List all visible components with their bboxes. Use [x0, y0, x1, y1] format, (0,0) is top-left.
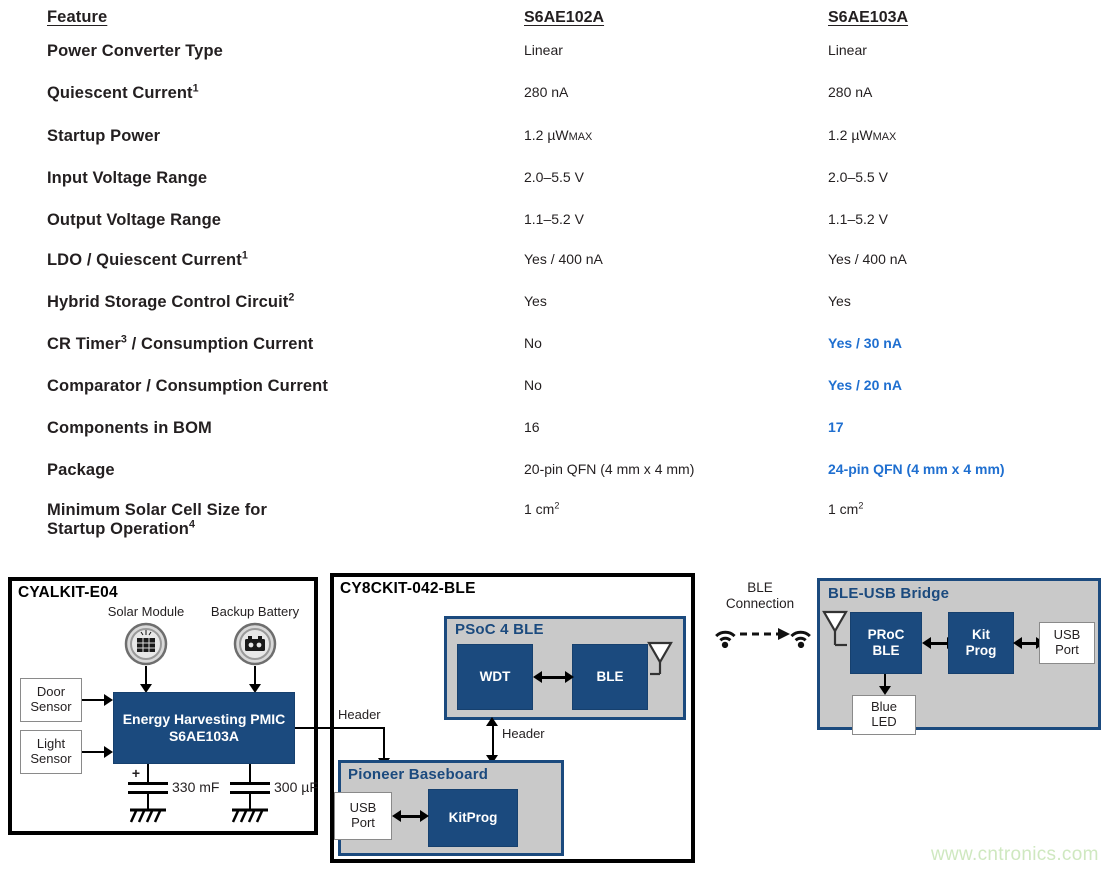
- feature-label: Output Voltage Range: [47, 211, 221, 230]
- arrowhead-light-sensor: [104, 746, 113, 758]
- arrowhead-door-sensor: [104, 694, 113, 706]
- ble-usb-bridge-title: BLE-USB Bridge: [828, 585, 949, 602]
- ground-symbol-1-icon: [128, 808, 168, 824]
- value-s6ae103a: Yes: [828, 293, 851, 310]
- ble-dashed-arrow-icon: [740, 626, 790, 642]
- psoc4-ble-title: PSoC 4 BLE: [455, 621, 544, 638]
- wire-psoc-baseboard: [492, 724, 494, 756]
- arrowhead-psoc-up: [486, 717, 498, 726]
- wire-proc-kitprog: [929, 642, 949, 645]
- wire-battery-to-pmic: [254, 666, 256, 686]
- cap1-polarity-label: +: [129, 765, 143, 781]
- value-s6ae102a: No: [524, 335, 542, 352]
- footnote-marker: 2: [288, 292, 294, 304]
- value-s6ae103a: 24-pin QFN (4 mm x 4 mm): [828, 461, 1005, 478]
- value-s6ae103a: Yes / 30 nA: [828, 335, 902, 352]
- column-header-s6ae102a: S6AE102A: [524, 8, 604, 27]
- feature-label: Package: [47, 461, 115, 480]
- value-s6ae102a: 280 nA: [524, 84, 568, 101]
- wire-header-from-pmic: [295, 727, 385, 729]
- panel-cy8ckit-042-ble-title: CY8CKIT-042-BLE: [340, 580, 476, 598]
- panel-cyalkit-e04-title: CYALKIT-E04: [18, 584, 118, 602]
- wire-header-drop: [383, 727, 385, 760]
- ble-block: BLE: [572, 644, 648, 710]
- watermark: www.cntronics.com: [931, 844, 1099, 866]
- wire-wdt-ble: [539, 676, 567, 679]
- ground-symbol-2-icon: [230, 808, 270, 824]
- ble-connection-line1: BLE: [705, 580, 815, 596]
- feature-comparison-table: Feature S6AE102A S6AE103A Power Converte…: [0, 0, 1109, 560]
- cap2-plate-top: [230, 782, 270, 785]
- arrowhead-usb-kitprog-right: [420, 810, 429, 822]
- value-s6ae102a: 1.1–5.2 V: [524, 211, 584, 228]
- value-s6ae102a: 20-pin QFN (4 mm x 4 mm): [524, 461, 694, 478]
- arrowhead-wdt-ble-left: [533, 671, 542, 683]
- usb-port-bridge-block: USB Port: [1039, 622, 1095, 664]
- column-header-feature: Feature: [47, 8, 107, 27]
- ble-connection-line2: Connection: [705, 596, 815, 612]
- footnote-marker: 1: [242, 250, 248, 262]
- arrowhead-kitprog-usb-left: [1013, 637, 1022, 649]
- solar-module-label: Solar Module: [96, 605, 196, 620]
- wireless-signal-left-icon: [712, 622, 738, 648]
- blue-led-block: Blue LED: [852, 695, 916, 735]
- feature-label: Minimum Solar Cell Size for Startup Oper…: [47, 501, 267, 540]
- feature-label: Quiescent Current1: [47, 84, 199, 103]
- feature-label: Components in BOM: [47, 419, 212, 438]
- column-header-s6ae103a: S6AE103A: [828, 8, 908, 27]
- value-s6ae103a: 1.2 µWMAX: [828, 127, 896, 144]
- value-s6ae102a: 16: [524, 419, 540, 436]
- pioneer-baseboard-title: Pioneer Baseboard: [348, 766, 488, 783]
- value-s6ae103a: 2.0–5.5 V: [828, 169, 888, 186]
- energy-harvesting-pmic-block: Energy Harvesting PMIC S6AE103A: [113, 692, 295, 764]
- door-sensor-block: Door Sensor: [20, 678, 82, 722]
- kit-prog-bridge-block: Kit Prog: [948, 612, 1014, 674]
- wire-usb-kitprog: [398, 815, 422, 818]
- feature-label: Comparator / Consumption Current: [47, 377, 328, 396]
- backup-battery-icon: [233, 622, 277, 666]
- ble-connection-label: BLE Connection: [705, 580, 815, 612]
- antenna-psoc-icon: [646, 640, 674, 680]
- value-s6ae102a: Yes: [524, 293, 547, 310]
- wire-door-sensor: [82, 699, 106, 701]
- footnote-marker: 4: [189, 519, 195, 531]
- arrowhead-usb-kitprog-left: [392, 810, 401, 822]
- value-s6ae103a: Yes / 400 nA: [828, 251, 907, 268]
- feature-label: Power Converter Type: [47, 42, 223, 61]
- arrowhead-proc-to-led: [879, 686, 891, 695]
- wdt-block: WDT: [457, 644, 533, 710]
- feature-label: Startup Power: [47, 127, 160, 146]
- value-s6ae103a: 1 cm2: [828, 501, 863, 518]
- value-s6ae102a: 2.0–5.5 V: [524, 169, 584, 186]
- value-s6ae102a: 1 cm2: [524, 501, 559, 518]
- arrowhead-proc-kitprog-left: [922, 637, 931, 649]
- value-s6ae103a: Yes / 20 nA: [828, 377, 902, 394]
- value-s6ae103a: Linear: [828, 42, 867, 59]
- feature-label: Hybrid Storage Control Circuit2: [47, 293, 294, 312]
- value-s6ae103a: 17: [828, 419, 844, 436]
- usb-port-baseboard-block: USB Port: [334, 792, 392, 840]
- value-s6ae102a: Yes / 400 nA: [524, 251, 603, 268]
- feature-label: LDO / Quiescent Current1: [47, 251, 248, 270]
- value-s6ae103a: 280 nA: [828, 84, 872, 101]
- wire-solar-to-pmic: [145, 666, 147, 686]
- kitprog-block: KitProg: [428, 789, 518, 847]
- header-mid-label: Header: [502, 727, 562, 742]
- value-s6ae102a: No: [524, 377, 542, 394]
- value-s6ae103a: 1.1–5.2 V: [828, 211, 888, 228]
- value-s6ae102a: Linear: [524, 42, 563, 59]
- header-left-label: Header: [338, 708, 398, 723]
- wire-light-sensor: [82, 751, 106, 753]
- cap1-plate-top: [128, 782, 168, 785]
- feature-label: CR Timer3 / Consumption Current: [47, 335, 313, 354]
- arrowhead-wdt-ble-right: [565, 671, 574, 683]
- system-block-diagram: CYALKIT-E04 Solar Module Backup Battery …: [0, 560, 1109, 873]
- footnote-marker: 1: [193, 83, 199, 95]
- feature-label: Input Voltage Range: [47, 169, 207, 188]
- wire-pmic-to-cap2: [249, 764, 251, 782]
- antenna-bridge-icon: [821, 609, 849, 651]
- proc-ble-block: PRoC BLE: [850, 612, 922, 674]
- wire-pmic-to-cap1: [147, 764, 149, 782]
- backup-battery-label: Backup Battery: [200, 605, 310, 620]
- wireless-signal-right-icon: [788, 622, 814, 648]
- solar-module-icon: [124, 622, 168, 666]
- light-sensor-block: Light Sensor: [20, 730, 82, 774]
- value-s6ae102a: 1.2 µWMAX: [524, 127, 592, 144]
